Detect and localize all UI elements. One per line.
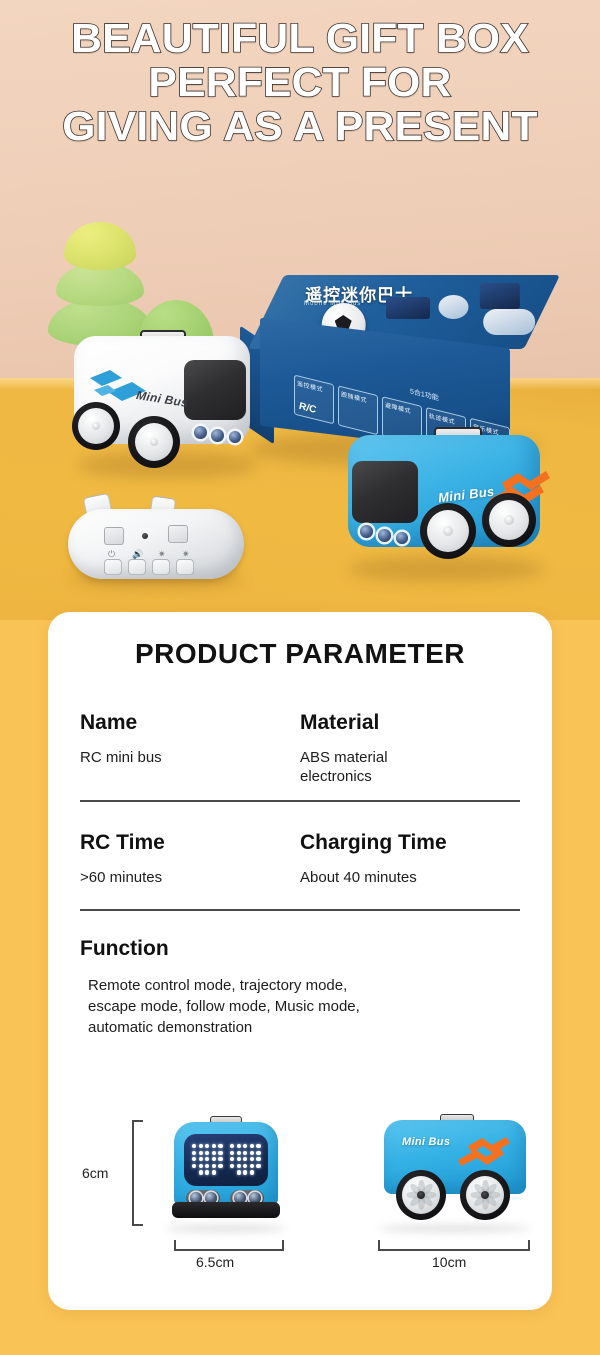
mode-badge-label: 避障模式 (385, 400, 411, 415)
led-dot (230, 1170, 234, 1174)
side-view-car: Mini Bus (380, 1114, 530, 1226)
mode-badge-abbr: R/C (299, 401, 316, 416)
headline-line-1: BEAUTIFUL GIFT BOX (0, 16, 600, 60)
mode-badge-label: 轨迹模式 (429, 411, 455, 426)
blue-car-wheel (482, 493, 536, 547)
side-length-label: 10cm (432, 1254, 466, 1270)
led-dot (192, 1151, 196, 1155)
wheel-hub (92, 422, 100, 430)
remote-lever-base-left (104, 527, 124, 545)
wheel-rim (78, 408, 114, 444)
led-dot (256, 1170, 260, 1174)
spec-cell-material: Material ABS material electronics (300, 710, 520, 786)
function-block: Function Remote control mode, trajectory… (80, 937, 520, 1038)
height-dimension-bracket (132, 1120, 134, 1226)
led-dot (199, 1144, 203, 1148)
spec-label: RC Time (80, 830, 290, 856)
led-dot (243, 1170, 247, 1174)
led-dot (199, 1164, 203, 1168)
led-dot (212, 1170, 216, 1174)
side-car-badge-text: Mini Bus (402, 1136, 450, 1148)
side-car-wheel-rear (460, 1170, 510, 1220)
wheel-rim (427, 510, 469, 552)
blue-car-wheel (420, 503, 476, 559)
giftbox-photo-screen (386, 297, 430, 319)
led-dot (250, 1157, 254, 1161)
spec-cell-name: Name RC mini bus (80, 710, 300, 786)
led-dot (218, 1144, 222, 1148)
giftbox-photo-remote (483, 309, 535, 335)
led-dot (250, 1170, 254, 1174)
led-dot (212, 1144, 216, 1148)
remote-indicator-led (142, 533, 148, 539)
spec-divider (80, 909, 520, 911)
giftbox-modes-label: 5合1功能 (410, 386, 439, 403)
wheel-rim (489, 500, 529, 540)
spec-divider (80, 800, 520, 802)
white-car-sensor-lens (211, 429, 224, 442)
product-marketing-page: BEAUTIFUL GIFT BOX PERFECT FOR GIVING AS… (0, 0, 600, 1355)
led-dot (256, 1151, 260, 1155)
side-car-wheel-front (396, 1170, 446, 1220)
mode-badge-label: 遥控模式 (297, 378, 323, 393)
led-dot (205, 1170, 209, 1174)
blue-car-sensor-lens (378, 529, 391, 542)
led-dot (237, 1144, 241, 1148)
led-dot (256, 1157, 260, 1161)
mode-badge-label: 跟随模式 (341, 389, 367, 404)
headline-block: BEAUTIFUL GIFT BOX PERFECT FOR GIVING AS… (0, 16, 600, 148)
wheel-rim (402, 1176, 440, 1214)
blue-mini-bus-car: Mini Bus (338, 425, 560, 585)
side-length-bracket (378, 1242, 530, 1251)
led-dot (250, 1164, 254, 1168)
hero-section: BEAUTIFUL GIFT BOX PERFECT FOR GIVING AS… (0, 0, 600, 620)
function-label: Function (80, 937, 520, 961)
led-dot (192, 1170, 196, 1174)
led-dot (212, 1164, 216, 1168)
led-dot (243, 1164, 247, 1168)
spec-label: Name (80, 710, 290, 736)
white-mini-bus-car: Mini Bus (66, 330, 266, 475)
remote-mode-button[interactable] (152, 559, 170, 575)
led-dot (250, 1151, 254, 1155)
wheel-hub (481, 1191, 489, 1199)
led-dot (256, 1164, 260, 1168)
dimension-figures: 6cm 6.5cm Mini Bus (48, 1102, 552, 1302)
led-dot (218, 1151, 222, 1155)
led-dot (199, 1151, 203, 1155)
led-dot (192, 1144, 196, 1148)
remote-control: ⏻ 🔊 ✷ ✷ (62, 495, 252, 587)
white-car-wheel (72, 402, 120, 450)
led-dot (230, 1164, 234, 1168)
spec-cell-rc-time: RC Time >60 minutes (80, 830, 300, 887)
led-dot (256, 1144, 260, 1148)
led-dot (237, 1170, 241, 1174)
spec-table: Name RC mini bus Material ABS material e… (80, 710, 520, 911)
led-dot (237, 1164, 241, 1168)
led-dot (243, 1144, 247, 1148)
led-dot (199, 1157, 203, 1161)
led-eye-right (230, 1144, 261, 1175)
spec-row: Name RC mini bus Material ABS material e… (80, 710, 520, 786)
front-car-shadow (166, 1224, 286, 1233)
spec-value: RC mini bus (80, 748, 290, 767)
led-dot (243, 1157, 247, 1161)
spec-label: Charging Time (300, 830, 510, 856)
led-dot (237, 1157, 241, 1161)
function-text: Remote control mode, trajectory mode, es… (88, 975, 520, 1038)
led-dot (230, 1151, 234, 1155)
led-dot (250, 1144, 254, 1148)
spec-row: RC Time >60 minutes Charging Time About … (80, 830, 520, 887)
blue-car-sensor-lens (360, 525, 373, 538)
giftbox-photo-car (480, 283, 520, 309)
remote-light-button[interactable] (176, 559, 194, 575)
remote-button-row (104, 559, 194, 575)
wheel-hub (417, 1191, 425, 1199)
wheel-hub (504, 515, 514, 525)
blue-car-led-face (352, 461, 418, 523)
remote-power-button[interactable] (104, 559, 122, 575)
white-car-sensor-lens (194, 426, 207, 439)
led-dot (230, 1144, 234, 1148)
product-parameter-card: PRODUCT PARAMETER Name RC mini bus Mater… (48, 612, 552, 1310)
led-dot (199, 1170, 203, 1174)
led-dot (218, 1170, 222, 1174)
front-width-label: 6.5cm (196, 1254, 234, 1270)
white-car-led-face (184, 360, 246, 420)
led-dot (205, 1164, 209, 1168)
led-dot (237, 1151, 241, 1155)
led-dot (230, 1157, 234, 1161)
tree-tier-top (64, 222, 136, 270)
front-width-bracket (174, 1242, 284, 1251)
led-dot (205, 1157, 209, 1161)
white-car-sensor-lens (229, 431, 241, 443)
spec-label: Material (300, 710, 510, 736)
headline-line-3: GIVING AS A PRESENT (0, 104, 600, 148)
led-dot (192, 1157, 196, 1161)
led-dot (212, 1157, 216, 1161)
wheel-hub (443, 526, 453, 536)
wheel-rim (135, 423, 173, 461)
spec-value: ABS material electronics (300, 748, 510, 786)
height-dimension-label: 6cm (82, 1165, 108, 1181)
wheel-rim (466, 1176, 504, 1214)
led-eye-left (192, 1144, 223, 1175)
led-dot (205, 1144, 209, 1148)
blue-car-sensor-lens (396, 532, 408, 544)
front-car-tyres (172, 1202, 280, 1218)
side-car-shadow (378, 1224, 530, 1233)
headline-line-2: PERFECT FOR (0, 60, 600, 104)
led-dot (218, 1164, 222, 1168)
spec-value: About 40 minutes (300, 868, 510, 887)
spec-value: >60 minutes (80, 868, 290, 887)
led-dot (218, 1157, 222, 1161)
led-dot (205, 1151, 209, 1155)
giftbox-photo-wheels (438, 295, 468, 319)
card-title: PRODUCT PARAMETER (48, 638, 552, 670)
front-view-car (166, 1114, 286, 1226)
orange-stripe-decal (456, 1134, 512, 1168)
front-car-led-screen (184, 1134, 268, 1186)
wheel-hub (150, 438, 158, 446)
mode-badge: 遥控模式 R/C (294, 375, 334, 425)
led-dot (212, 1151, 216, 1155)
remote-sound-button[interactable] (128, 559, 146, 575)
white-car-wheel (128, 416, 180, 468)
led-dot (192, 1164, 196, 1168)
spec-cell-charging-time: Charging Time About 40 minutes (300, 830, 520, 887)
remote-body: ⏻ 🔊 ✷ ✷ (68, 509, 244, 579)
led-dot (243, 1151, 247, 1155)
remote-lever-base-right (168, 525, 188, 543)
